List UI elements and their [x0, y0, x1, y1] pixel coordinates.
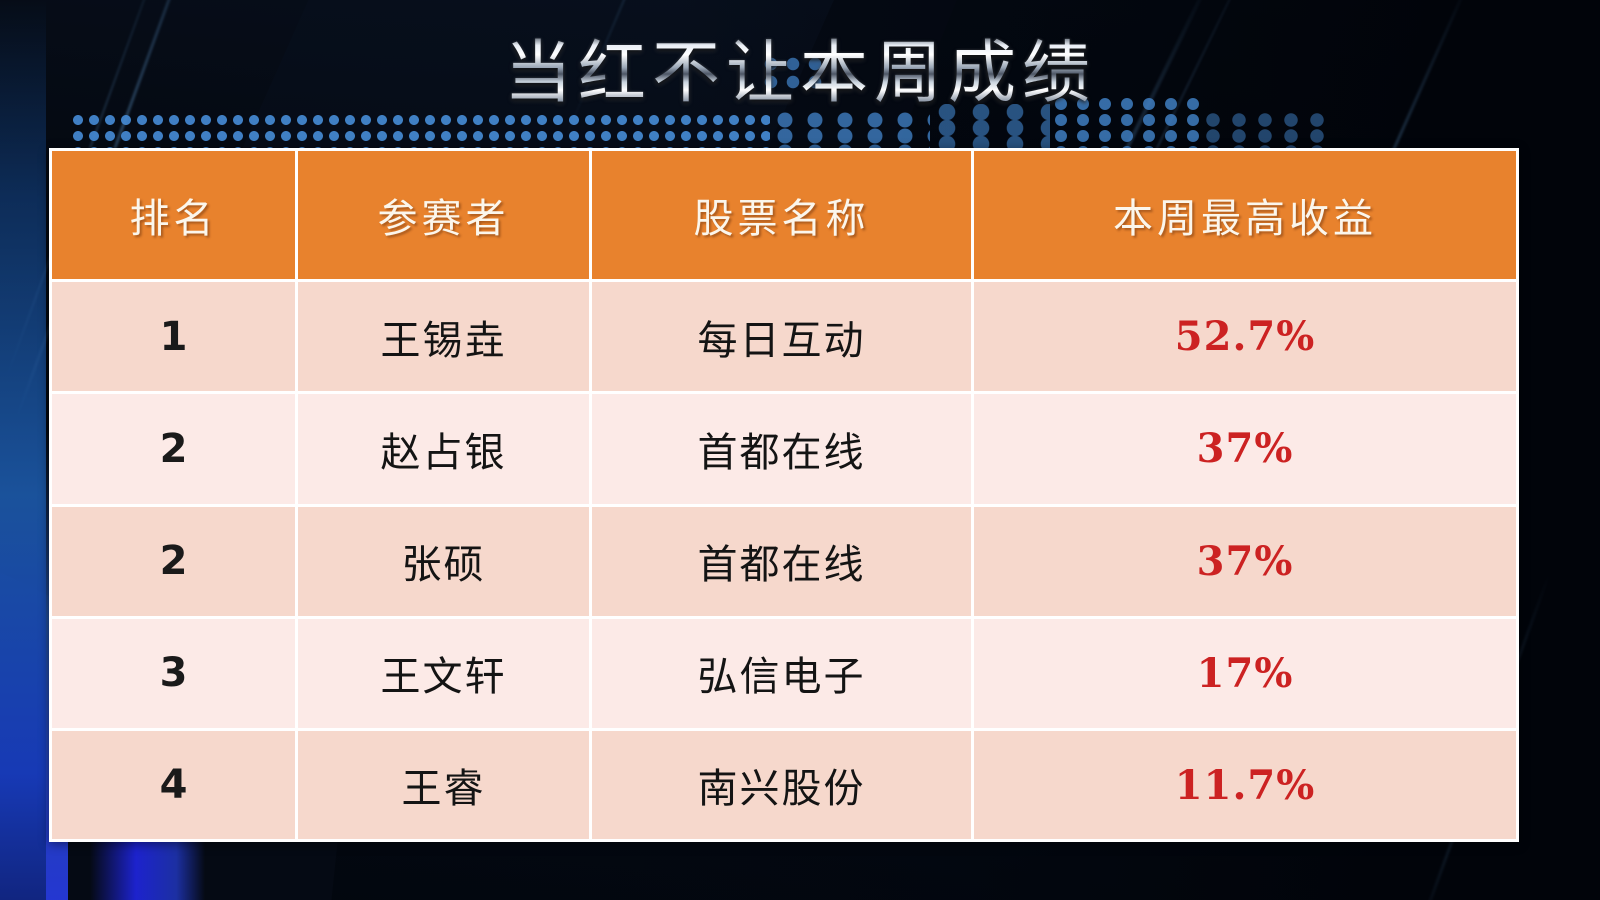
- slide-canvas: 当红不让本周成绩 排名 参赛者 股票名称 本周最高收益 1 王锡垚 每日互动 5…: [0, 0, 1600, 900]
- cell-stock: 首都在线: [591, 505, 973, 617]
- results-table: 排名 参赛者 股票名称 本周最高收益 1 王锡垚 每日互动 52.7% 2 赵占…: [49, 148, 1519, 842]
- cell-rank: 3: [52, 617, 297, 729]
- cell-gain: 52.7%: [973, 281, 1517, 393]
- table-row: 3 王文轩 弘信电子 17%: [52, 617, 1516, 729]
- cell-stock: 每日互动: [591, 281, 973, 393]
- cell-stock: 首都在线: [591, 393, 973, 505]
- cell-rank: 2: [52, 505, 297, 617]
- cell-gain: 37%: [973, 393, 1517, 505]
- cell-stock: 南兴股份: [591, 730, 973, 840]
- cell-rank: 2: [52, 393, 297, 505]
- cell-gain: 17%: [973, 617, 1517, 729]
- cell-gain: 37%: [973, 505, 1517, 617]
- table-row: 2 赵占银 首都在线 37%: [52, 393, 1516, 505]
- cell-rank: 1: [52, 281, 297, 393]
- background-dot-matrix: [770, 112, 930, 148]
- cell-name: 赵占银: [297, 393, 591, 505]
- cell-gain: 11.7%: [973, 730, 1517, 840]
- column-header-rank: 排名: [52, 151, 297, 281]
- cell-name: 王睿: [297, 730, 591, 840]
- cell-name: 王文轩: [297, 617, 591, 729]
- column-header-stock: 股票名称: [591, 151, 973, 281]
- cell-name: 张硕: [297, 505, 591, 617]
- cell-stock: 弘信电子: [591, 617, 973, 729]
- background-dot-matrix: [1200, 112, 1330, 148]
- table-row: 2 张硕 首都在线 37%: [52, 505, 1516, 617]
- background-dot-matrix: [70, 112, 770, 148]
- page-title: 当红不让本周成绩: [0, 34, 1600, 114]
- column-header-name: 参赛者: [297, 151, 591, 281]
- background-blue-band: [0, 0, 46, 900]
- table-row: 1 王锡垚 每日互动 52.7%: [52, 281, 1516, 393]
- table-header-row: 排名 参赛者 股票名称 本周最高收益: [52, 151, 1516, 281]
- table-row: 4 王睿 南兴股份 11.7%: [52, 730, 1516, 840]
- column-header-gain: 本周最高收益: [973, 151, 1517, 281]
- cell-name: 王锡垚: [297, 281, 591, 393]
- cell-rank: 4: [52, 730, 297, 840]
